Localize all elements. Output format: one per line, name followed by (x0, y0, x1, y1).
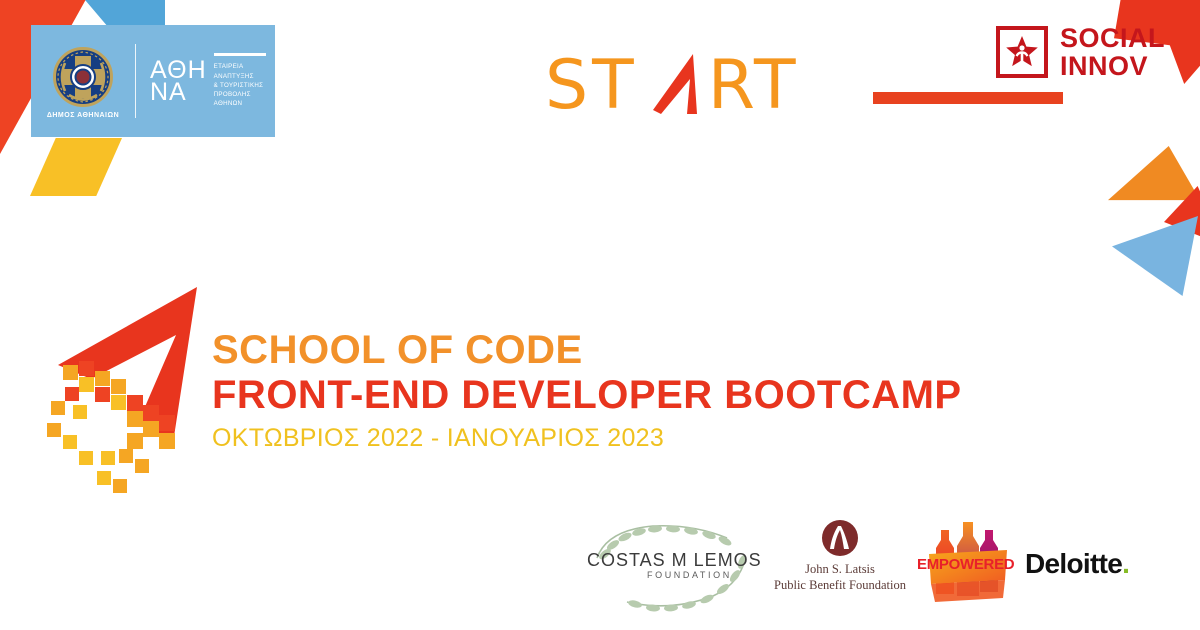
athens-card-divider (135, 44, 136, 118)
start-logo: ST RT (545, 52, 800, 120)
sponsor-logo-deloitte: Deloitte. (1025, 514, 1165, 614)
athens-municipality-logo: ΔΗΜΟΣ ΑΘΗΝΑΙΩΝ (31, 25, 135, 137)
athena-wordmark: ΑΘΗ ΝΑ (150, 59, 207, 103)
athens-partner-card: ΔΗΜΟΣ ΑΘΗΝΑΙΩΝ ΑΘΗ ΝΑ ΕΤΑΙΡΕΙΑ ΑΝΑΠΤΥΞΗΣ… (31, 25, 275, 137)
athena-tagline-line: ΑΘΗΝΩΝ (214, 99, 264, 108)
headline-line-1: SCHOOL OF CODE (212, 328, 962, 373)
athena-tagline-line: & ΤΟΥΡΙΣΤΙΚΗΣ (214, 81, 264, 90)
social-innov-line1: SOCIAL (1060, 24, 1165, 52)
latsis-lambda-icon (822, 520, 858, 556)
start-logo-letters-after: RT (708, 52, 800, 120)
headline-dates: ΟΚΤΩΒΡΙΟΣ 2022 - ΙΑΝΟΥΑΡΙΟΣ 2023 (212, 424, 962, 453)
social-innov-logo: SOCIAL INNOV (996, 24, 1165, 81)
sponsor-logo-costas-m-lemos: COSTAS M LEMOS FOUNDATION (575, 514, 765, 614)
athena-tagline-line: ΕΤΑΙΡΕΙΑ (214, 62, 264, 71)
deloitte-dot-icon: . (1122, 548, 1129, 580)
latsis-name-line1: John S. Latsis (765, 562, 915, 578)
sponsor-logo-row: COSTAS M LEMOS FOUNDATION John S. Latsis… (575, 512, 1185, 616)
headline-line-2: FRONT-END DEVELOPER BOOTCAMP (212, 373, 962, 418)
athena-tagline-line: ΑΝΑΠΤΥΞΗΣ (214, 72, 264, 81)
athena-wordmark-line2: ΝΑ (150, 81, 207, 103)
empowered-wordmark: EMPOWERED (917, 556, 1014, 573)
athena-tagline: ΕΤΑΙΡΕΙΑ ΑΝΑΠΤΥΞΗΣ & ΤΟΥΡΙΣΤΙΚΗΣ ΠΡΟΒΟΛΗ… (214, 53, 264, 108)
decor-triangle-right-blue (1112, 216, 1198, 296)
athena-tagline-line: ΠΡΟΒΟΛΗΣ (214, 90, 264, 99)
lemos-name: COSTAS M LEMOS (587, 550, 762, 571)
sponsor-logo-empowered: EMPOWERED (915, 514, 1025, 614)
lemos-label: FOUNDATION (647, 570, 732, 580)
social-innov-star-icon (996, 26, 1048, 78)
sponsor-logo-john-s-latsis: John S. Latsis Public Benefit Foundation (765, 514, 915, 614)
social-innov-line2: INNOV (1060, 52, 1165, 80)
latsis-name-line2: Public Benefit Foundation (765, 578, 915, 594)
athena-tagline-rule (214, 53, 266, 56)
start-arrow-icon (641, 52, 705, 120)
social-innov-underline-bar (873, 92, 1063, 104)
headline-block: SCHOOL OF CODE FRONT-END DEVELOPER BOOTC… (212, 328, 962, 453)
start-logo-letters-before: ST (545, 52, 638, 120)
athens-seal-caption: ΔΗΜΟΣ ΑΘΗΝΑΙΩΝ (47, 112, 119, 119)
deloitte-wordmark: Deloitte (1025, 548, 1122, 580)
athens-seal-icon (53, 47, 113, 107)
rocket-icon (35, 283, 220, 498)
